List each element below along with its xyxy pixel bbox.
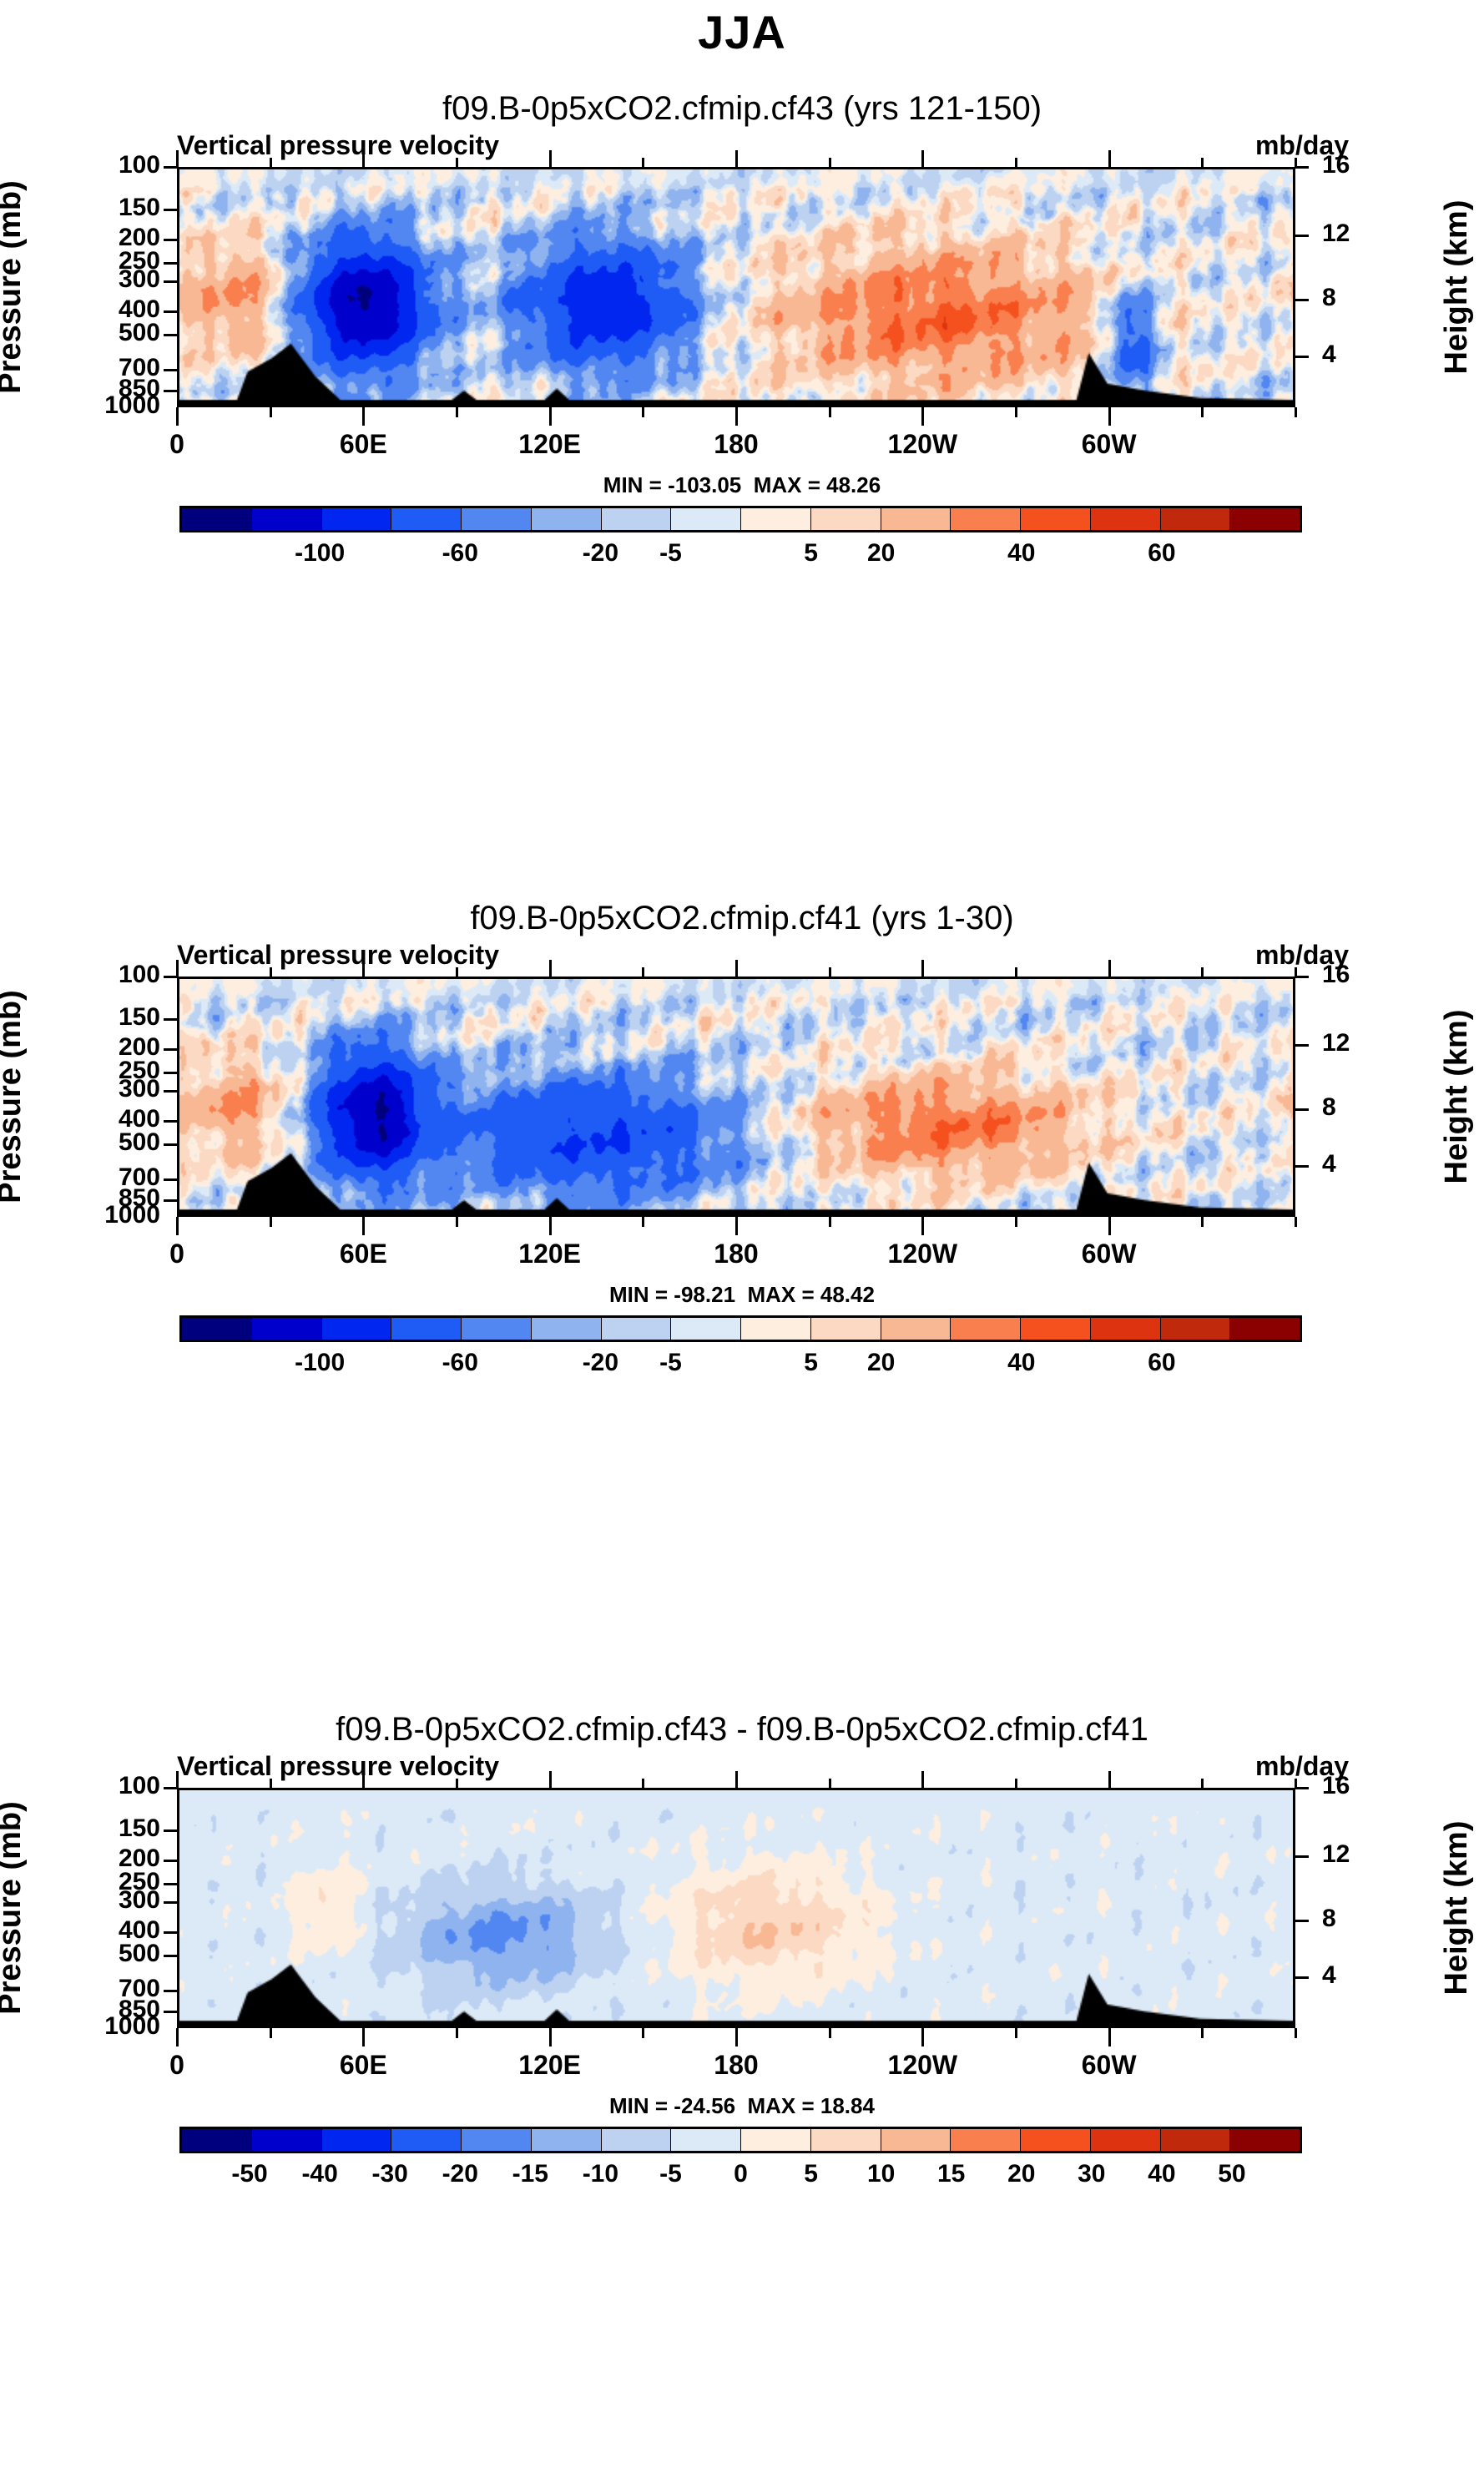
plot-area (0, 977, 1484, 1227)
colorbar-cell (741, 2129, 811, 2151)
longitude-tick-mark (362, 2028, 365, 2046)
pressure-tick-label: 1000 (68, 2012, 160, 2041)
colorbar-tick-label: 60 (1112, 1349, 1212, 1377)
colorbar-tick-label: 40 (972, 1349, 1072, 1377)
height-tick-label: 8 (1322, 1905, 1414, 1933)
max-label: MAX = 18.84 (747, 2093, 874, 2118)
height-axis-title: Height (km) (1439, 200, 1475, 375)
height-tick-label: 12 (1322, 1840, 1414, 1869)
height-tick-label: 4 (1322, 1150, 1414, 1178)
longitude-top-tick-mark (362, 150, 365, 167)
colorbar-cell (391, 508, 462, 530)
longitude-tick-label: 180 (678, 429, 795, 460)
longitude-top-tick-mark (456, 967, 458, 977)
height-tick-label: 12 (1322, 220, 1414, 248)
colorbar-cell (881, 2129, 951, 2151)
colorbar-cell (1230, 1318, 1300, 1340)
longitude-top-tick-mark (642, 158, 644, 167)
colorbar-cell (1021, 508, 1091, 530)
longitude-top-tick-mark (735, 150, 738, 167)
colorbar-cell (741, 508, 811, 530)
longitude-top-tick-mark (1295, 967, 1297, 977)
colorbar-cell (602, 1318, 672, 1340)
longitude-top-tick-mark (456, 158, 458, 167)
plot-frame (177, 1788, 1295, 2028)
pressure-tick-mark (164, 1072, 177, 1074)
longitude-tick-mark (362, 1217, 365, 1235)
longitude-tick-mark (270, 407, 272, 417)
height-tick-mark (1295, 235, 1309, 237)
colorbar-cell (182, 508, 252, 530)
colorbar-cell (391, 1318, 462, 1340)
longitude-tick-mark (456, 1217, 458, 1227)
height-tick-mark (1295, 166, 1309, 169)
longitude-top-tick-mark (176, 1771, 179, 1788)
height-tick-label: 4 (1322, 341, 1414, 369)
colorbar-tick-label: 20 (831, 539, 931, 568)
longitude-tick-mark (176, 2028, 179, 2046)
longitude-tick-mark (270, 1217, 272, 1227)
pressure-tick-label: 500 (68, 1128, 160, 1157)
colorbar-cell (602, 508, 672, 530)
pressure-tick-label: 1000 (68, 391, 160, 420)
pressure-tick-mark (164, 390, 177, 392)
longitude-tick-label: 60W (1051, 429, 1168, 460)
longitude-tick-mark (1295, 1217, 1297, 1227)
pressure-tick-mark (164, 1860, 177, 1862)
pressure-tick-mark (164, 976, 177, 978)
longitude-tick-mark (549, 2028, 552, 2046)
longitude-tick-mark (362, 407, 365, 426)
height-tick-label: 4 (1322, 1961, 1414, 1990)
longitude-tick-label: 0 (119, 2050, 235, 2081)
colorbar-cell (391, 2129, 462, 2151)
variable-label: Vertical pressure velocity (177, 940, 499, 971)
colorbar-tick-labels: -50-40-30-20-15-10-505101520304050 (179, 2160, 1302, 2195)
colorbar-cells (179, 506, 1302, 532)
colorbar-cell (182, 2129, 252, 2151)
contour-field (179, 979, 1293, 1214)
longitude-top-tick-mark (1201, 158, 1204, 167)
longitude-tick-mark (270, 2028, 272, 2038)
pressure-tick-mark (164, 1120, 177, 1123)
colorbar-cell (951, 2129, 1021, 2151)
longitude-tick-mark (549, 1217, 552, 1235)
colorbar-tick-label: -100 (270, 1349, 370, 1377)
pressure-axis-title: Pressure (mb) (0, 180, 28, 394)
colorbar-cell (462, 1318, 532, 1340)
colorbar-cell (951, 508, 1021, 530)
longitude-tick-mark (1108, 407, 1111, 426)
colorbar-cell (1091, 508, 1161, 530)
longitude-top-tick-mark (1108, 1771, 1111, 1788)
pressure-tick-mark (164, 1901, 177, 1904)
pressure-tick-label: 100 (68, 961, 160, 989)
longitude-tick-label: 120W (864, 429, 981, 460)
longitude-tick-mark (921, 407, 924, 426)
longitude-top-tick-mark (1201, 967, 1204, 977)
pressure-tick-mark (164, 166, 177, 169)
colorbar-tick-label: -5 (620, 539, 720, 568)
longitude-top-tick-mark (549, 960, 552, 977)
panel-cf41: f09.B-0p5xCO2.cfmip.cf41 (yrs 1-30) Vert… (0, 896, 1484, 1227)
longitude-top-tick-mark (362, 960, 365, 977)
colorbar-cell (462, 508, 532, 530)
pressure-tick-mark (164, 1990, 177, 1992)
height-tick-label: 8 (1322, 1093, 1414, 1122)
longitude-tick-mark (1015, 2028, 1017, 2038)
colorbar-tick-label: -60 (410, 539, 510, 568)
panel-subheader: Vertical pressure velocity mb/day (0, 130, 1484, 167)
longitude-tick-label: 180 (678, 1239, 795, 1269)
height-axis-title: Height (km) (1439, 1010, 1475, 1184)
height-tick-mark (1295, 356, 1309, 358)
longitude-tick-label: 60W (1051, 1239, 1168, 1269)
pressure-axis-title: Pressure (mb) (0, 1801, 28, 2015)
height-tick-label: 8 (1322, 284, 1414, 312)
longitude-tick-mark (642, 2028, 644, 2038)
colorbar-cell (1230, 508, 1300, 530)
longitude-tick-mark (1295, 407, 1297, 417)
panel-difference: f09.B-0p5xCO2.cfmip.cf43 - f09.B-0p5xCO2… (0, 1708, 1484, 2038)
minmax-annotation: MIN = -24.56 MAX = 18.84 (0, 2093, 1484, 2119)
height-tick-mark (1295, 1976, 1309, 1979)
colorbar-cell (252, 2129, 322, 2151)
longitude-tick-label: 60E (305, 2050, 421, 2081)
longitude-tick-mark (176, 407, 179, 426)
longitude-top-tick-mark (829, 1779, 831, 1788)
colorbar-cell (811, 1318, 881, 1340)
colorbar-cell (1161, 2129, 1231, 2151)
longitude-tick-label: 120E (492, 1239, 608, 1269)
longitude-tick-mark (1295, 2028, 1297, 2038)
colorbar-cell (462, 2129, 532, 2151)
colorbar-tick-label: 50 (1182, 2160, 1282, 2188)
panel-cf43: f09.B-0p5xCO2.cfmip.cf43 (yrs 121-150) V… (0, 87, 1484, 417)
height-tick-mark (1295, 299, 1309, 301)
colorbar-tick-label: -60 (410, 1349, 510, 1377)
colorbar-cell (1021, 1318, 1091, 1340)
pressure-tick-label: 100 (68, 1772, 160, 1800)
longitude-top-tick-mark (456, 1779, 458, 1788)
longitude-top-tick-mark (1201, 1779, 1204, 1788)
colorbar-cell (1161, 1318, 1231, 1340)
panel-subheader: Vertical pressure velocity mb/day (0, 940, 1484, 977)
longitude-top-tick-mark (176, 150, 179, 167)
longitude-top-tick-mark (642, 967, 644, 977)
pressure-tick-mark (164, 1018, 177, 1021)
pressure-tick-label: 300 (68, 265, 160, 294)
panel-title: f09.B-0p5xCO2.cfmip.cf41 (yrs 1-30) (0, 896, 1484, 940)
season-title: JJA (0, 0, 1484, 59)
min-label: MIN = -103.05 (603, 472, 741, 497)
longitude-tick-mark (1015, 407, 1017, 417)
height-tick-label: 16 (1322, 961, 1414, 989)
height-tick-mark (1295, 976, 1309, 978)
colorbar-cells (179, 1315, 1302, 1342)
longitude-tick-mark (921, 1217, 924, 1235)
colorbar-cell (741, 1318, 811, 1340)
colorbar-cell (532, 508, 602, 530)
colorbar-tick-labels: -100-60-20-55204060 (179, 539, 1302, 574)
pressure-tick-mark (164, 369, 177, 371)
variable-label: Vertical pressure velocity (177, 130, 499, 161)
colorbar-cell (252, 508, 322, 530)
panel-subheader: Vertical pressure velocity mb/day (0, 1751, 1484, 1788)
colorbar-cell (671, 1318, 741, 1340)
colorbar-cell (322, 508, 392, 530)
longitude-top-tick-mark (735, 1771, 738, 1788)
longitude-top-tick-mark (1015, 158, 1017, 167)
longitude-tick-mark (921, 2028, 924, 2046)
longitude-tick-label: 60W (1051, 2050, 1168, 2081)
colorbar-cell (1091, 1318, 1161, 1340)
colorbar-tick-label: 20 (831, 1349, 931, 1377)
longitude-top-tick-mark (829, 158, 831, 167)
longitude-tick-mark (642, 407, 644, 417)
longitude-tick-mark (1201, 2028, 1204, 2038)
variable-label: Vertical pressure velocity (177, 1751, 499, 1782)
longitude-tick-label: 120E (492, 429, 608, 460)
height-axis-title: Height (km) (1439, 1821, 1475, 1996)
contour-field (179, 1790, 1293, 2026)
colorbar-cell (671, 2129, 741, 2151)
longitude-top-tick-mark (270, 1779, 272, 1788)
colorbar-cell (1161, 508, 1231, 530)
longitude-top-tick-mark (829, 967, 831, 977)
height-tick-label: 16 (1322, 1772, 1414, 1800)
longitude-top-tick-mark (1015, 1779, 1017, 1788)
colorbar-cell (532, 1318, 602, 1340)
longitude-top-tick-mark (1108, 150, 1111, 167)
longitude-tick-mark (642, 1217, 644, 1227)
pressure-tick-mark (164, 1048, 177, 1051)
longitude-tick-mark (1015, 1217, 1017, 1227)
longitude-tick-mark (456, 407, 458, 417)
longitude-tick-mark (1201, 407, 1204, 417)
min-label: MIN = -24.56 (609, 2093, 735, 2118)
longitude-tick-mark (829, 2028, 831, 2038)
longitude-tick-mark (829, 1217, 831, 1227)
longitude-tick-mark (1108, 2028, 1111, 2046)
longitude-top-tick-mark (549, 1771, 552, 1788)
colorbar-tick-label: 40 (972, 539, 1072, 568)
colorbar-cell (322, 2129, 392, 2151)
pressure-tick-mark (164, 1090, 177, 1093)
longitude-tick-label: 120W (864, 2050, 981, 2081)
pressure-axis-title: Pressure (mb) (0, 990, 28, 1204)
plot-frame (177, 167, 1295, 407)
longitude-tick-label: 0 (119, 1239, 235, 1269)
colorbar-cell (252, 1318, 322, 1340)
plot-area (0, 1788, 1484, 2038)
colorbar-cell (881, 508, 951, 530)
height-tick-mark (1295, 1108, 1309, 1111)
longitude-top-tick-mark (1295, 1779, 1297, 1788)
longitude-top-tick-mark (362, 1771, 365, 1788)
pressure-tick-mark (164, 1178, 177, 1181)
colorbar-tick-label: 60 (1112, 539, 1212, 568)
colorbar-tick-label: -100 (270, 539, 370, 568)
longitude-tick-mark (829, 407, 831, 417)
minmax-annotation: MIN = -98.21 MAX = 48.42 (0, 1282, 1484, 1308)
pressure-tick-mark (164, 239, 177, 241)
longitude-tick-label: 60E (305, 1239, 421, 1269)
colorbar-tick-labels: -100-60-20-55204060 (179, 1349, 1302, 1384)
longitude-tick-mark (456, 2028, 458, 2038)
longitude-tick-mark (735, 2028, 738, 2046)
height-tick-mark (1295, 1165, 1309, 1168)
longitude-tick-label: 180 (678, 2050, 795, 2081)
minmax-annotation: MIN = -103.05 MAX = 48.26 (0, 472, 1484, 498)
longitude-top-tick-mark (921, 150, 924, 167)
colorbar-tick-label: -5 (620, 1349, 720, 1377)
longitude-top-tick-mark (270, 158, 272, 167)
height-tick-mark (1295, 1920, 1309, 1922)
longitude-top-tick-mark (921, 1771, 924, 1788)
colorbar-cell (1021, 2129, 1091, 2151)
pressure-tick-mark (164, 262, 177, 265)
height-tick-mark (1295, 1044, 1309, 1047)
longitude-top-tick-mark (176, 960, 179, 977)
longitude-tick-label: 120E (492, 2050, 608, 2081)
height-tick-label: 12 (1322, 1029, 1414, 1057)
longitude-top-tick-mark (735, 960, 738, 977)
pressure-tick-label: 500 (68, 319, 160, 347)
longitude-tick-label: 0 (119, 429, 235, 460)
colorbar-cell (182, 1318, 252, 1340)
pressure-tick-label: 300 (68, 1886, 160, 1915)
longitude-tick-label: 60E (305, 429, 421, 460)
longitude-tick-mark (1108, 1217, 1111, 1235)
pressure-tick-label: 300 (68, 1075, 160, 1103)
longitude-tick-mark (735, 1217, 738, 1235)
max-label: MAX = 48.42 (747, 1282, 874, 1307)
colorbar-cell (671, 508, 741, 530)
pressure-tick-mark (164, 1931, 177, 1934)
pressure-tick-mark (164, 1143, 177, 1146)
pressure-tick-label: 150 (68, 1814, 160, 1843)
pressure-tick-mark (164, 209, 177, 211)
longitude-top-tick-mark (921, 960, 924, 977)
colorbar-cell (602, 2129, 672, 2151)
pressure-tick-label: 1000 (68, 1201, 160, 1229)
pressure-tick-mark (164, 1199, 177, 1202)
pressure-tick-mark (164, 1883, 177, 1885)
colorbar-cell (322, 1318, 392, 1340)
longitude-top-tick-mark (1295, 158, 1297, 167)
longitude-tick-mark (549, 407, 552, 426)
height-tick-mark (1295, 1855, 1309, 1858)
plot-area (0, 167, 1484, 417)
colorbar-cell (1230, 2129, 1300, 2151)
pressure-tick-mark (164, 1829, 177, 1832)
max-label: MAX = 48.26 (754, 472, 881, 497)
colorbar-cell (811, 508, 881, 530)
colorbar-cell (951, 1318, 1021, 1340)
colorbar-cell (881, 1318, 951, 1340)
contour-field (179, 169, 1293, 405)
longitude-tick-mark (735, 407, 738, 426)
pressure-tick-mark (164, 1955, 177, 1957)
colorbar-cells (179, 2127, 1302, 2153)
longitude-top-tick-mark (1015, 967, 1017, 977)
colorbar-cell (811, 2129, 881, 2151)
colorbar-cell (1091, 2129, 1161, 2151)
height-tick-mark (1295, 1787, 1309, 1789)
panel-title: f09.B-0p5xCO2.cfmip.cf43 (yrs 121-150) (0, 87, 1484, 130)
pressure-tick-mark (164, 334, 177, 336)
pressure-tick-label: 150 (68, 194, 160, 222)
longitude-tick-mark (1201, 1217, 1204, 1227)
longitude-tick-label: 120W (864, 1239, 981, 1269)
pressure-tick-label: 150 (68, 1003, 160, 1032)
height-tick-label: 16 (1322, 151, 1414, 179)
min-label: MIN = -98.21 (609, 1282, 735, 1307)
pressure-tick-mark (164, 310, 177, 313)
pressure-tick-label: 500 (68, 1940, 160, 1968)
pressure-tick-label: 100 (68, 151, 160, 179)
longitude-top-tick-mark (642, 1779, 644, 1788)
pressure-tick-mark (164, 2011, 177, 2013)
panel-title: f09.B-0p5xCO2.cfmip.cf43 - f09.B-0p5xCO2… (0, 1708, 1484, 1751)
colorbar-cell (532, 2129, 602, 2151)
pressure-tick-mark (164, 1787, 177, 1789)
plot-frame (177, 977, 1295, 1217)
longitude-top-tick-mark (549, 150, 552, 167)
pressure-tick-mark (164, 280, 177, 283)
longitude-top-tick-mark (1108, 960, 1111, 977)
longitude-top-tick-mark (270, 967, 272, 977)
longitude-tick-mark (176, 1217, 179, 1235)
